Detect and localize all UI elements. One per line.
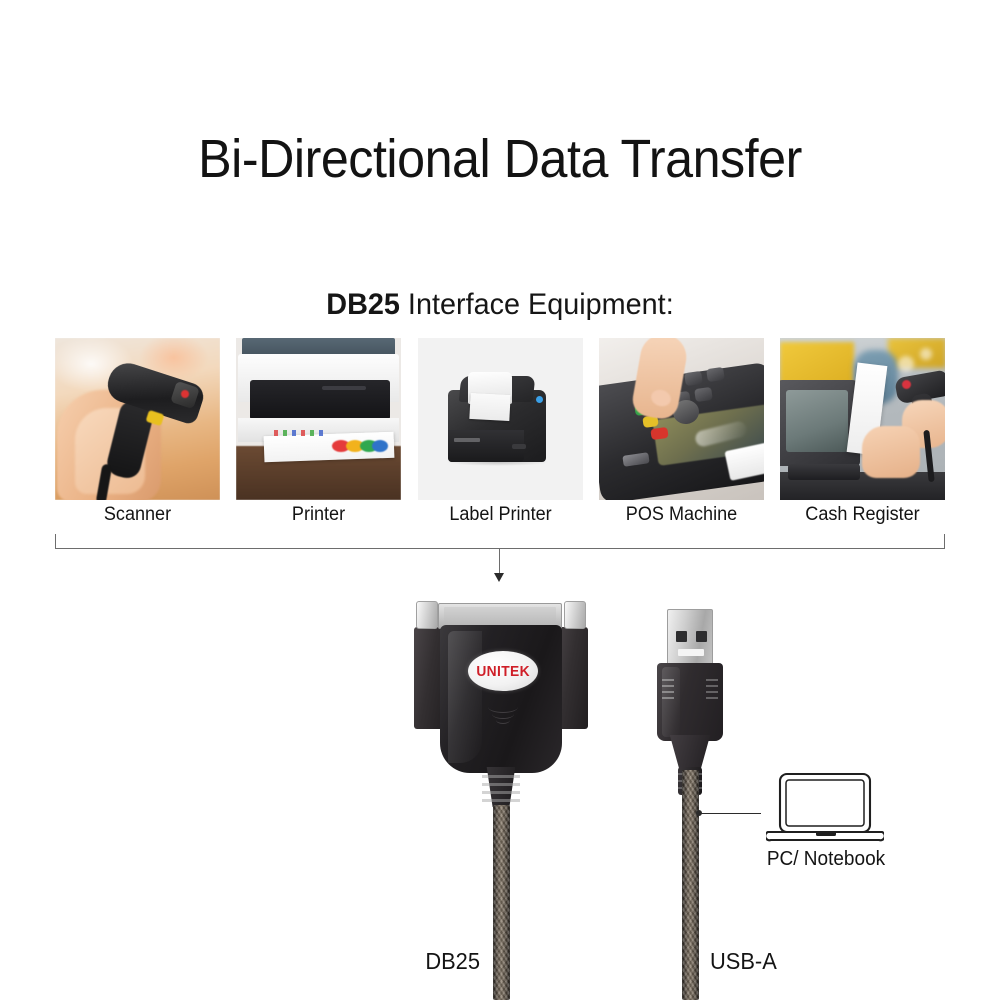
laptop-icon xyxy=(766,772,884,844)
equipment-bracket xyxy=(55,548,945,549)
subtitle-rest-part: Interface Equipment: xyxy=(400,288,674,321)
destination-label: PC/ Notebook xyxy=(733,848,919,871)
db25-connector: UNITEK xyxy=(396,595,606,825)
equipment-label: Label Printer xyxy=(408,504,591,526)
pos-terminal-photo xyxy=(599,338,764,500)
equipment-label: Cash Register xyxy=(771,504,954,526)
equipment-item-pos-machine: POS Machine xyxy=(599,338,764,538)
equipment-item-scanner: Scanner xyxy=(55,338,220,538)
callout-leader-line xyxy=(699,813,761,814)
product-infographic: Bi-Directional Data Transfer DB25 Interf… xyxy=(0,0,1000,1000)
thumbscrew-right-icon xyxy=(564,601,586,629)
equipment-label: POS Machine xyxy=(590,504,773,526)
down-arrow-icon xyxy=(494,573,504,582)
label-printer-photo xyxy=(418,338,583,500)
usb-cable xyxy=(682,770,699,1000)
usb-a-label: USB-A xyxy=(710,948,862,975)
page-title: Bi-Directional Data Transfer xyxy=(35,128,965,190)
signal-wave-icon xyxy=(488,701,520,727)
cash-register-photo xyxy=(780,338,945,500)
bracket-tick-left xyxy=(55,534,56,548)
equipment-item-cash-register: Cash Register xyxy=(780,338,945,538)
thumbscrew-left-icon xyxy=(416,601,438,629)
unitek-logo: UNITEK xyxy=(476,663,530,680)
brand-badge: UNITEK xyxy=(468,651,538,691)
equipment-item-label-printer: Label Printer xyxy=(418,338,583,538)
equipment-label: Printer xyxy=(227,504,410,526)
db25-label: DB25 xyxy=(338,948,481,975)
barcode-scanner-photo xyxy=(55,338,220,500)
subtitle-bold-part: DB25 xyxy=(326,288,400,321)
equipment-thumbnail-row: Scanner Printer Label Printer xyxy=(55,338,945,538)
section-subtitle: DB25 Interface Equipment: xyxy=(20,288,980,322)
equipment-label: Scanner xyxy=(46,504,229,526)
bracket-tick-right xyxy=(944,534,945,548)
db25-cable xyxy=(493,805,510,1000)
inkjet-printer-photo xyxy=(236,338,401,500)
equipment-item-printer: Printer xyxy=(236,338,401,538)
